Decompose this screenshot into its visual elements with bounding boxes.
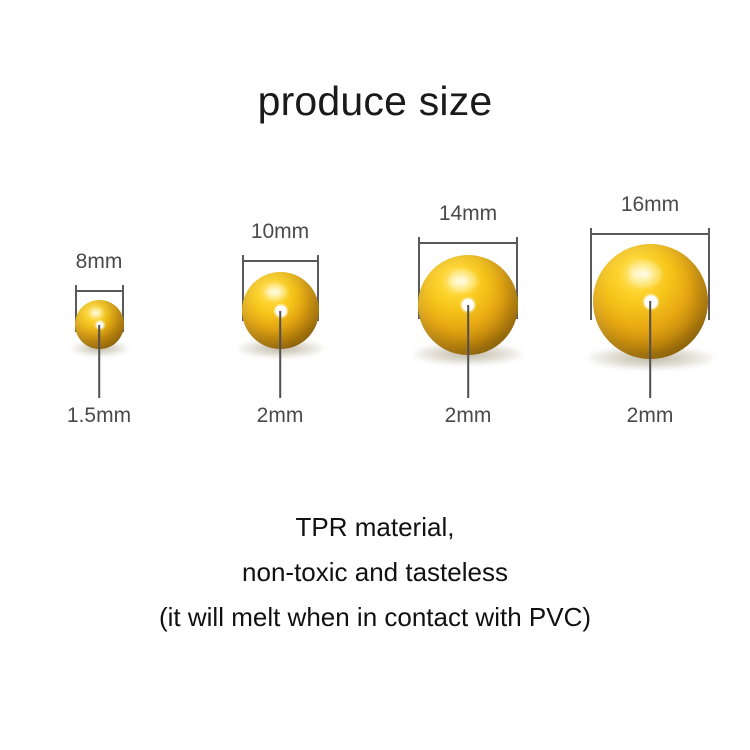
description-block: TPR material, non-toxic and tasteless (i… <box>0 505 750 640</box>
diameter-label: 8mm <box>21 250 177 274</box>
ball-highlight <box>448 269 478 293</box>
hole-size-label: 2mm <box>390 404 546 428</box>
ball-highlight <box>628 260 663 288</box>
ball-highlight <box>90 307 105 319</box>
diameter-label: 16mm <box>572 193 728 217</box>
ball-group-10mm: 10mm 2mm <box>202 0 358 470</box>
hole-leader-line <box>279 311 281 398</box>
ball-group-14mm: 14mm 2mm <box>390 0 546 470</box>
bracket-tick-right <box>708 228 710 320</box>
bracket-bar <box>75 290 124 292</box>
ball-size-diagram: 8mm 1.5mm 10mm <box>0 0 750 470</box>
bracket-bar <box>418 242 518 244</box>
description-line-1: TPR material, <box>0 505 750 550</box>
bracket-tick-left <box>590 228 592 320</box>
hole-leader-line <box>467 305 469 398</box>
hole-size-label: 2mm <box>572 404 728 428</box>
description-line-2: non-toxic and tasteless <box>0 550 750 595</box>
diameter-label: 14mm <box>390 202 546 226</box>
bracket-bar <box>590 233 710 235</box>
hole-leader-line <box>649 301 651 398</box>
diameter-label: 10mm <box>202 220 358 244</box>
bracket-bar <box>242 260 319 262</box>
ball-highlight <box>265 283 288 301</box>
hole-size-label: 1.5mm <box>21 404 177 428</box>
description-line-3: (it will melt when in contact with PVC) <box>0 595 750 640</box>
hole-size-label: 2mm <box>202 404 358 428</box>
ball-group-8mm: 8mm 1.5mm <box>21 0 177 470</box>
ball-group-16mm: 16mm 2mm <box>572 0 728 470</box>
hole-leader-line <box>98 325 100 398</box>
